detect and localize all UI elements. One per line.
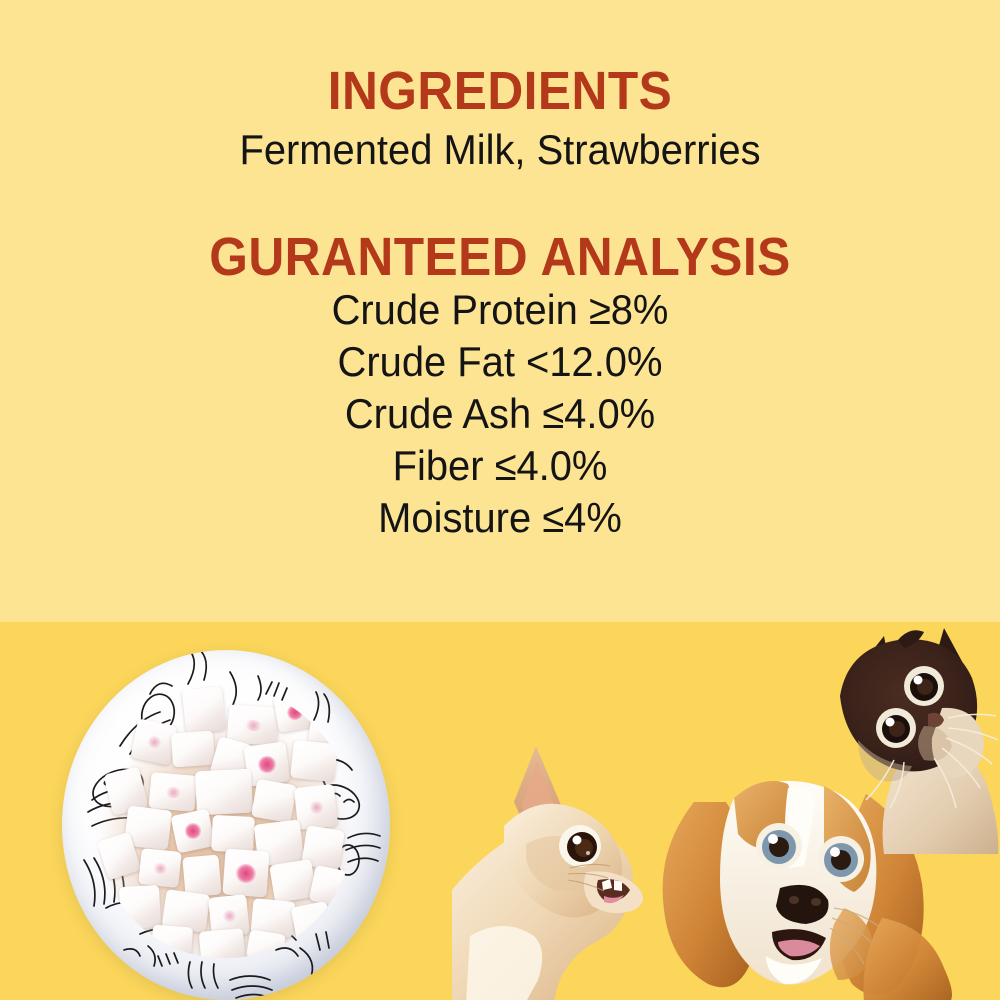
product-label-page: INGREDIENTS Fermented Milk, Strawberries… — [0, 0, 1000, 1000]
ingredients-value: Fermented Milk, Strawberries — [25, 126, 975, 174]
analysis-row: Crude Ash ≤4.0% — [25, 388, 975, 440]
nutrition-info-panel: INGREDIENTS Fermented Milk, Strawberries… — [0, 0, 1000, 622]
analysis-row: Crude Protein ≥8% — [25, 284, 975, 336]
guaranteed-analysis-list: Crude Protein ≥8% Crude Fat <12.0% Crude… — [0, 284, 1000, 544]
analysis-row: Crude Fat <12.0% — [25, 336, 975, 388]
analysis-row: Fiber ≤4.0% — [25, 440, 975, 492]
guaranteed-analysis-heading: GURANTEED ANALYSIS — [40, 228, 960, 286]
himalayan-cat-image — [806, 622, 1000, 854]
product-photo-band — [0, 622, 1000, 1000]
treat-cube-pile — [96, 686, 354, 958]
analysis-row: Moisture ≤4% — [25, 492, 975, 544]
bowl-of-treats-image — [62, 650, 390, 1000]
ingredients-heading: INGREDIENTS — [40, 62, 960, 120]
